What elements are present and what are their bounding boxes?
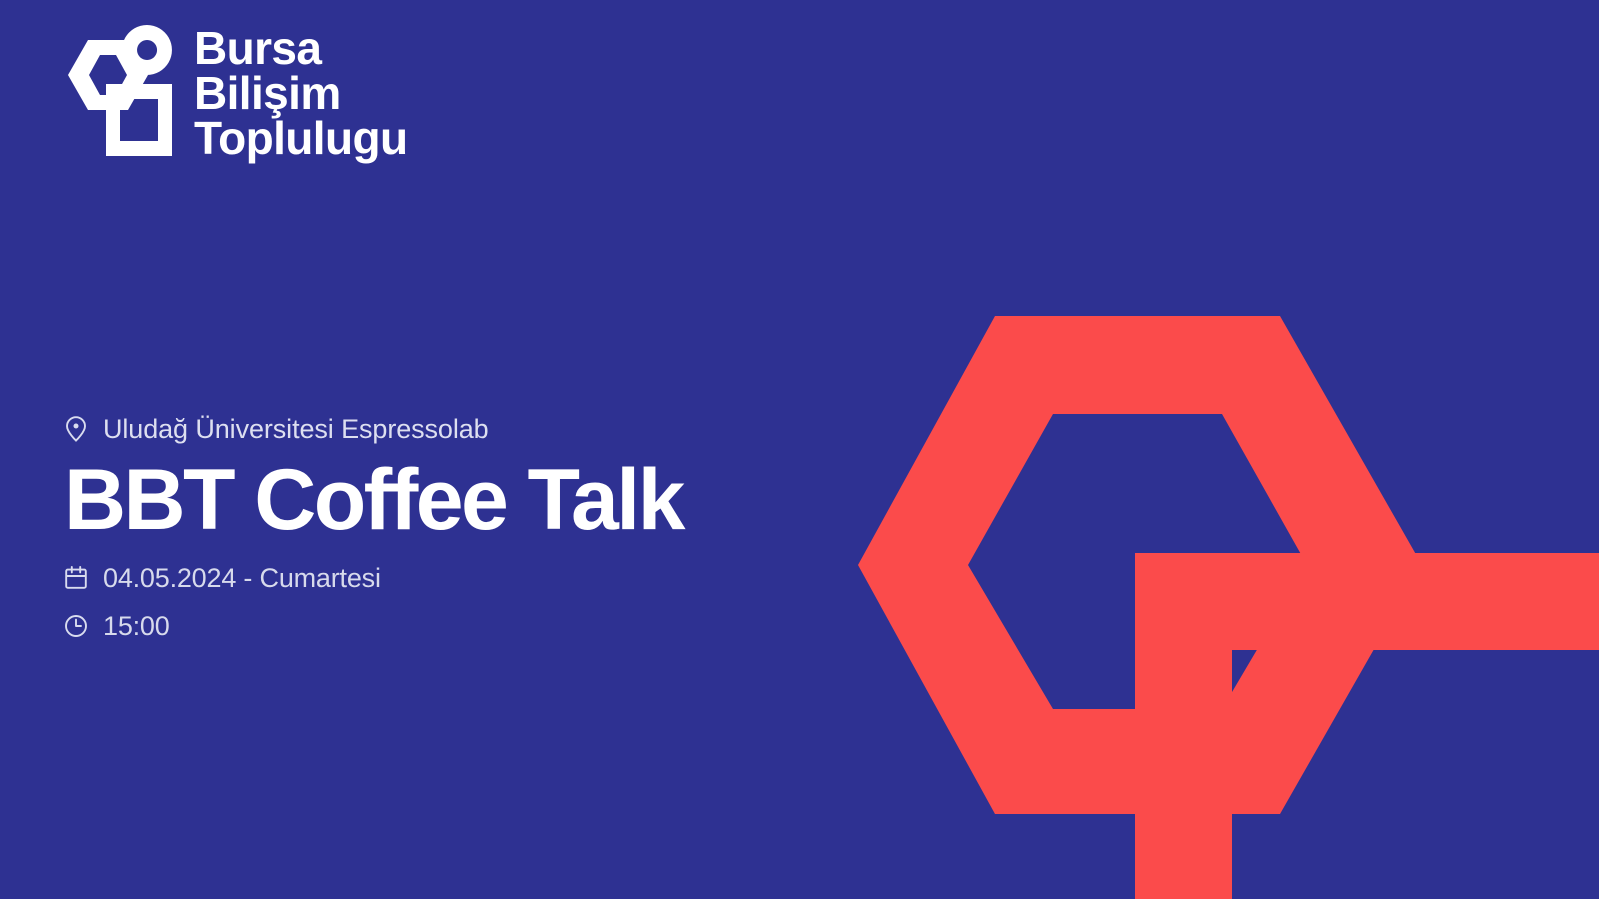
clock-icon [64, 613, 88, 639]
event-poster: Bursa Bilişim Toplulugu Uludağ Üniversit… [0, 0, 1599, 899]
location-pin-icon [64, 415, 88, 443]
event-details: Uludağ Üniversitesi Espressolab BBT Coff… [64, 412, 924, 642]
hexagon-circle-square-logo-icon [62, 22, 176, 160]
time-text: 15:00 [103, 610, 170, 642]
venue-text: Uludağ Üniversitesi Espressolab [103, 412, 489, 446]
wordmark-line-1: Bursa [194, 26, 407, 71]
time-row: 15:00 [64, 610, 924, 642]
wordmark-line-3: Toplulugu [194, 116, 407, 161]
wordmark-line-2: Bilişim [194, 71, 407, 116]
venue-row: Uludağ Üniversitesi Espressolab [64, 412, 924, 446]
brand-wordmark: Bursa Bilişim Toplulugu [194, 26, 407, 161]
event-title: BBT Coffee Talk [64, 452, 924, 548]
date-text: 04.05.2024 - Cumartesi [103, 562, 381, 594]
brand-logo-lockup: Bursa Bilişim Toplulugu [62, 22, 407, 161]
calendar-icon [64, 565, 88, 591]
date-row: 04.05.2024 - Cumartesi [64, 562, 924, 594]
